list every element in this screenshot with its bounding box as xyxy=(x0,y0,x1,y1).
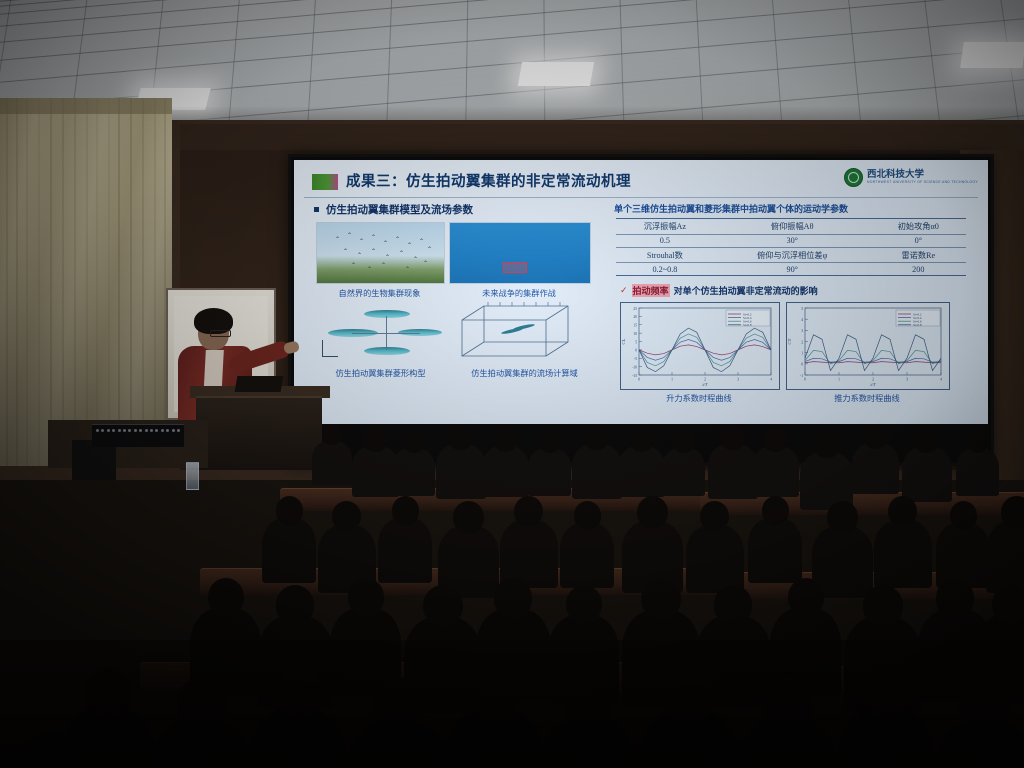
audience-head xyxy=(720,424,745,450)
schematic-caption-2: 仿生拍动翼集群的流场计算域 xyxy=(452,367,597,379)
bird-silhouette-icon: ⌃ xyxy=(399,251,404,257)
bird-silhouette-icon: ⌃ xyxy=(423,261,428,267)
highlight-term: 拍动频率 xyxy=(632,284,670,297)
audience-torso xyxy=(618,446,665,497)
svg-text:15: 15 xyxy=(633,324,637,328)
audience-head xyxy=(863,585,902,626)
connector-horizontal xyxy=(352,333,420,334)
audience-member xyxy=(748,496,802,589)
wing-top xyxy=(364,310,410,318)
thrust-chart-svg: -101234501234CTt/TSt=0.2St=0.4St=0.6St=0… xyxy=(787,303,947,387)
audience-member xyxy=(312,424,352,490)
audience-head xyxy=(788,578,824,616)
audience-torso xyxy=(956,448,999,496)
audience-member xyxy=(618,427,665,503)
audience-head xyxy=(641,578,680,619)
audience-torso xyxy=(560,523,614,588)
svg-text:20: 20 xyxy=(633,315,637,319)
audience-head xyxy=(364,427,387,452)
table-header-cell: 雷诺数Re xyxy=(871,247,966,263)
bird-silhouette-icon: ⌃ xyxy=(427,247,432,253)
bird-silhouette-icon: ⌃ xyxy=(347,233,352,239)
audience-torso xyxy=(572,444,622,498)
audience-head xyxy=(914,427,939,453)
table-header-row: 沉浮振幅Az俯仰振幅Aθ初始攻角α0 xyxy=(616,219,966,235)
audience-head xyxy=(403,430,425,453)
audience-head xyxy=(322,424,342,445)
university-seal-icon xyxy=(844,168,863,187)
bird-silhouette-icon: ⌃ xyxy=(383,241,388,247)
bird-silhouette-icon: ⌃ xyxy=(367,267,372,273)
audience-head xyxy=(764,427,787,452)
svg-text:CL: CL xyxy=(621,338,626,344)
title-color-swatch xyxy=(312,174,338,190)
audience-torso xyxy=(312,441,352,485)
section-heading: 仿生拍动翼集群模型及流场参数 xyxy=(326,202,473,217)
table-value-cell: 0.2~0.8 xyxy=(616,263,714,276)
audience-torso xyxy=(902,447,952,501)
audience-head xyxy=(700,501,729,531)
svg-text:1: 1 xyxy=(838,378,840,382)
ceiling-light-3 xyxy=(960,42,1024,68)
bird-silhouette-icon: ⌃ xyxy=(371,249,376,255)
audience-head xyxy=(637,496,667,528)
audience-member xyxy=(528,430,571,501)
svg-text:10: 10 xyxy=(633,332,637,336)
svg-text:-10: -10 xyxy=(632,365,637,369)
lecture-hall-scene: 成果三：仿生拍动翼集群的非定常流动机理 西北科技大学 NORTHWEST UNI… xyxy=(0,0,1024,768)
audience-head xyxy=(276,496,303,525)
svg-text:0: 0 xyxy=(804,378,806,382)
audience-torso xyxy=(262,518,316,583)
audience-head xyxy=(566,585,602,623)
bird-silhouette-icon: ⌃ xyxy=(343,249,348,255)
svg-text:0: 0 xyxy=(638,378,640,382)
audience-torso xyxy=(378,518,432,583)
audience-head xyxy=(813,430,840,458)
audience-torso xyxy=(748,518,802,583)
audience-head xyxy=(1001,496,1024,528)
table-header-cell: 初始攻角α0 xyxy=(871,219,966,235)
svg-text:4: 4 xyxy=(801,318,803,322)
svg-text:t/T: t/T xyxy=(703,382,708,387)
audience-head xyxy=(673,430,695,453)
bird-silhouette-icon: ⌃ xyxy=(405,267,410,273)
bird-silhouette-icon: ⌃ xyxy=(351,263,356,269)
domain-box-svg xyxy=(454,300,589,364)
table-value-cell: 30° xyxy=(714,234,871,247)
audience-member xyxy=(662,430,705,501)
svg-text:1: 1 xyxy=(801,351,803,355)
schematic-computational-domain xyxy=(454,300,589,364)
foreground-shadow xyxy=(0,640,1024,768)
section-bullet-icon xyxy=(314,207,319,212)
audience-head xyxy=(888,496,917,526)
audience-head xyxy=(494,578,532,618)
check-icon: ✓ xyxy=(620,285,628,296)
audience-torso xyxy=(708,444,758,498)
table-header-cell: 沉浮振幅Az xyxy=(616,219,714,235)
audience-torso xyxy=(852,443,899,494)
axis-x xyxy=(322,356,338,357)
svg-text:0: 0 xyxy=(801,363,803,367)
table-row: 0.2~0.890°200 xyxy=(616,263,966,276)
bird-silhouette-icon: ⌃ xyxy=(385,255,390,261)
sea-photo-marker xyxy=(503,262,527,273)
audience-torso xyxy=(528,448,571,496)
bird-silhouette-icon: ⌃ xyxy=(335,237,340,243)
audience-member xyxy=(572,424,622,505)
svg-text:2: 2 xyxy=(801,340,803,344)
audience-head xyxy=(453,501,483,533)
audience-torso xyxy=(392,448,435,496)
audience-head xyxy=(967,430,989,453)
presenter-arm xyxy=(227,339,291,374)
svg-text:-15: -15 xyxy=(632,374,637,378)
thrust-coefficient-chart: -101234501234CTt/TSt=0.2St=0.4St=0.6St=0… xyxy=(786,302,950,390)
audience-head xyxy=(864,424,887,449)
schematic-caption-1: 仿生拍动翼集群菱形构型 xyxy=(308,367,453,379)
wing-bottom xyxy=(364,347,410,355)
table-header-row: Strouhal数俯仰与沉浮相位差φ雷诺数Re xyxy=(616,247,966,263)
audience-head xyxy=(448,424,473,450)
audience-head xyxy=(584,424,609,450)
table-value-cell: 90° xyxy=(714,263,871,276)
bird-silhouette-icon: ⌃ xyxy=(419,239,424,245)
university-name-english: NORTHWEST UNIVERSITY OF SCIENCE AND TECH… xyxy=(867,180,978,184)
table-value-cell: 200 xyxy=(871,263,966,276)
svg-text:4: 4 xyxy=(770,378,772,382)
svg-text:2: 2 xyxy=(704,378,706,382)
audience-member xyxy=(852,424,899,500)
table-header-cell: Strouhal数 xyxy=(616,247,714,263)
svg-text:2: 2 xyxy=(872,378,874,382)
svg-text:St=0.8: St=0.8 xyxy=(913,323,922,327)
table-row: 0.530°0° xyxy=(616,234,966,247)
bird-silhouette-icon: ⌃ xyxy=(381,263,386,269)
audience-head xyxy=(332,501,361,531)
svg-text:4: 4 xyxy=(940,378,942,382)
svg-text:t/T: t/T xyxy=(871,382,876,387)
lift-chart-svg: -15-10-5051015202501234CLt/TSt=0.2St=0.4… xyxy=(621,303,777,387)
audience-torso xyxy=(482,446,529,497)
audience-head xyxy=(539,430,561,453)
presenter-glasses xyxy=(210,330,231,337)
audience-head xyxy=(392,496,419,525)
svg-text:25: 25 xyxy=(633,307,637,311)
svg-text:3: 3 xyxy=(906,378,908,382)
svg-text:-5: -5 xyxy=(634,357,637,361)
kinematic-params-table: 沉浮振幅Az俯仰振幅Aθ初始攻角α00.530°0°Strouhal数俯仰与沉浮… xyxy=(616,218,966,276)
audience-head xyxy=(276,585,314,625)
audience-head xyxy=(494,427,517,452)
slide-title: 成果三：仿生拍动翼集群的非定常流动机理 xyxy=(346,170,631,191)
svg-text:5: 5 xyxy=(801,307,803,311)
audience-member xyxy=(956,430,999,501)
audience-head xyxy=(574,501,601,530)
svg-text:3: 3 xyxy=(801,329,803,333)
photo-bird-flock: ⌃⌃⌃⌃⌃⌃⌃⌃⌃⌃⌃⌃⌃⌃⌃⌃⌃⌃⌃⌃ xyxy=(316,222,445,284)
table-value-cell: 0.5 xyxy=(616,234,714,247)
audience-head xyxy=(514,496,543,526)
lift-coefficient-chart: -15-10-5051015202501234CLt/TSt=0.2St=0.4… xyxy=(620,302,780,390)
slide-content: 成果三：仿生拍动翼集群的非定常流动机理 西北科技大学 NORTHWEST UNI… xyxy=(294,160,988,424)
audience-head xyxy=(630,427,653,452)
axis-y xyxy=(322,340,323,356)
audience-head xyxy=(208,578,244,616)
audience-member xyxy=(752,427,799,503)
bird-silhouette-icon: ⌃ xyxy=(359,239,364,245)
audience-head xyxy=(762,496,789,525)
ceiling-grid-line xyxy=(0,0,1024,70)
table-header-cell: 俯仰振幅Aθ xyxy=(714,219,871,235)
table-value-cell: 0° xyxy=(871,234,966,247)
svg-text:0: 0 xyxy=(635,349,637,353)
svg-text:3: 3 xyxy=(737,378,739,382)
audience-head xyxy=(936,578,974,618)
svg-text:St=0.8: St=0.8 xyxy=(743,323,752,327)
audience-head xyxy=(827,501,857,533)
audience-head xyxy=(950,501,977,530)
svg-text:5: 5 xyxy=(635,340,637,344)
laptop xyxy=(235,376,284,392)
audience-member xyxy=(378,496,432,589)
table-header-cell: 俯仰与沉浮相位差φ xyxy=(714,247,871,263)
audience-member xyxy=(708,424,758,505)
bird-silhouette-icon: ⌃ xyxy=(357,253,362,259)
photo-caption-1: 自然界的生物集群现象 xyxy=(316,287,443,299)
impact-bullet-text: 对单个仿生拍动翼非定常流动的影响 xyxy=(674,284,818,297)
audience-torso xyxy=(752,446,799,497)
params-table-title: 单个三维仿生拍动翼和菱形集群中拍动翼个体的运动学参数 xyxy=(614,202,848,215)
photo-caption-2: 未来战争的集群作战 xyxy=(449,287,589,299)
audience-member xyxy=(436,424,486,505)
svg-text:-1: -1 xyxy=(800,374,803,378)
bird-silhouette-icon: ⌃ xyxy=(395,237,400,243)
bird-silhouette-icon: ⌃ xyxy=(413,257,418,263)
audience-torso xyxy=(662,448,705,496)
bird-silhouette-icon: ⌃ xyxy=(407,243,412,249)
slide-title-bar: 成果三：仿生拍动翼集群的非定常流动机理 西北科技大学 NORTHWEST UNI… xyxy=(294,170,988,196)
svg-text:1: 1 xyxy=(671,378,673,382)
audience-head xyxy=(423,585,462,626)
audience-member xyxy=(560,501,614,594)
ceiling-light-2 xyxy=(518,62,594,86)
svg-text:CT: CT xyxy=(787,338,792,344)
photo-swarm-warfare xyxy=(449,222,591,284)
audience-head xyxy=(348,578,384,616)
audience-torso xyxy=(436,444,486,498)
impact-bullet-row: ✓ 拍动频率 对单个仿生拍动翼非定常流动的影响 xyxy=(620,284,818,297)
audience-head xyxy=(992,585,1024,623)
university-logo: 西北科技大学 NORTHWEST UNIVERSITY OF SCIENCE A… xyxy=(844,168,978,187)
university-name: 西北科技大学 xyxy=(867,171,978,181)
audience-member xyxy=(262,496,316,589)
ceiling-grid-line xyxy=(0,0,1024,51)
audience-member xyxy=(482,427,529,503)
bird-silhouette-icon: ⌃ xyxy=(371,235,376,241)
audience-member xyxy=(392,430,435,501)
audience-head xyxy=(714,585,752,625)
schematic-diamond-config xyxy=(316,302,443,364)
